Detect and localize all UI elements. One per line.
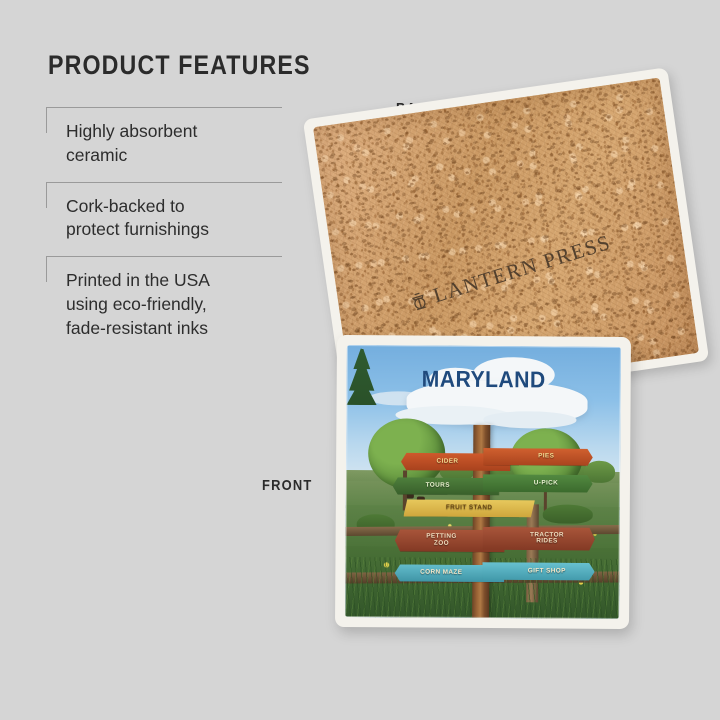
feature-divider [46,107,282,108]
feature-tick [46,256,47,282]
feature-item: Cork-backed to protect furnishings [46,182,314,257]
product-features-panel: PRODUCT FEATURES Highly absorbent cerami… [46,50,314,355]
coaster-artwork: MARYLAND [345,345,621,619]
feature-tick [46,182,47,208]
feature-text: Highly absorbent ceramic [66,120,314,168]
cloud [483,411,576,428]
feature-tick [46,107,47,133]
tree [510,428,582,510]
feature-divider [46,256,282,257]
front-label: FRONT [262,477,312,494]
feature-divider [46,182,282,183]
coaster-front: MARYLAND [335,335,631,629]
feature-item: Highly absorbent ceramic [46,107,314,182]
sign-pies: PIES [483,448,593,466]
sign-tractor-rides: TRACTOR RIDES [483,527,595,551]
feature-text: Printed in the USA using eco-friendly, f… [66,269,314,340]
artwork-title: MARYLAND [358,366,610,395]
sign-u-pick: U-PICK [483,474,593,492]
feature-text: Cork-backed to protect furnishings [66,195,314,243]
product-feature-image: PRODUCT FEATURES Highly absorbent cerami… [0,0,720,720]
feature-item: Printed in the USA using eco-friendly, f… [46,256,314,354]
sign-gift-shop: GIFT SHOP [482,562,594,580]
page-title: PRODUCT FEATURES [48,50,277,81]
sign-fruit-stand: FRUIT STAND [403,499,535,517]
